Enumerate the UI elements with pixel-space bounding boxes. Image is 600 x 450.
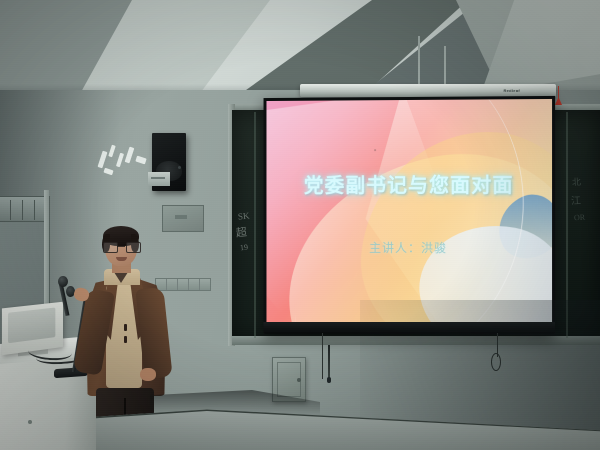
lectern-latch [28,420,32,424]
screen-pull-cord[interactable] [555,86,562,106]
photo-scene: SK 超 19 北 江 OR Redleaf 党委副书记与您面对面 [0,0,600,450]
presenter-hand-right [140,368,156,381]
speaker-mount-bracket [148,172,170,186]
slide-artwork [266,99,552,332]
door-transom-window [0,196,46,222]
projector-screen-housing[interactable]: Redleaf [300,84,556,97]
screen-brand-logo: Redleaf [503,88,520,93]
monitor-screen [8,307,55,343]
handheld-microphone-head-icon [58,276,68,287]
ceiling-strut-a [418,36,420,90]
blackboard-seam-left [254,112,256,338]
screen-cable-left [322,333,323,379]
ceiling-light-reflection [98,143,150,181]
presenter-button-2 [124,336,127,343]
slide-title: 党委副书记与您面对面 [266,169,552,199]
glasses-icon [103,242,139,251]
slide-subtitle: 主讲人：洪骏 [266,238,552,256]
hanging-cord [328,345,330,379]
slide-speck [374,149,376,151]
speaker-tweeter-icon [178,166,181,169]
projection-screen-surface: 党委副书记与您面对面 主讲人：洪骏 [266,99,552,332]
presenter-button-1 [124,324,127,331]
